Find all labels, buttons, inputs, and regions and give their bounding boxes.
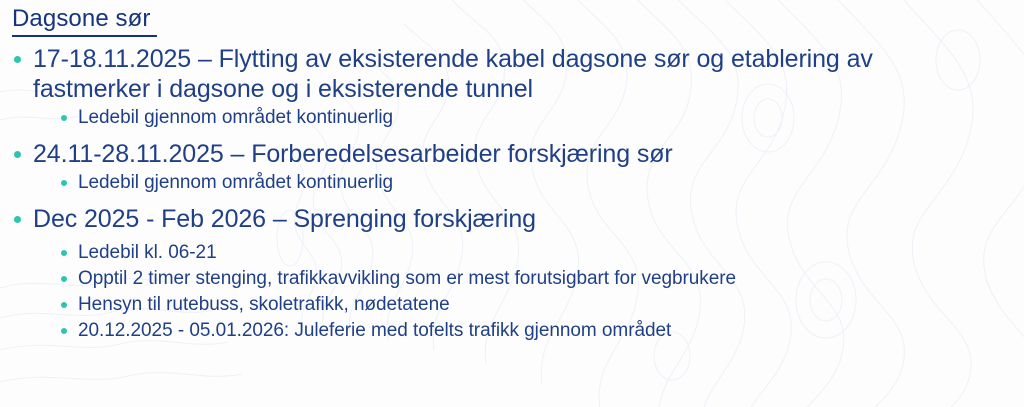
list-item-level2: Opptil 2 timer stenging, trafikkavviklin… xyxy=(0,266,1024,292)
spacer xyxy=(0,196,1024,204)
dot-bullet-icon xyxy=(14,151,21,158)
list-item-level1: 24.11-28.11.2025 – Forberedelsesarbeider… xyxy=(0,139,1024,169)
slide-canvas: Dagsone sør 17-18.11.2025 – Flytting av … xyxy=(0,0,1024,407)
dot-bullet-icon xyxy=(61,115,67,121)
list-item-level1: 17-18.11.2025 – Flytting av eksisterende… xyxy=(0,44,1024,104)
list-item-level2: Hensyn til rutebuss, skoletrafikk, nødet… xyxy=(0,292,1024,318)
dot-bullet-icon xyxy=(61,250,67,256)
dot-bullet-icon xyxy=(61,276,67,282)
list-item-text: 17-18.11.2025 – Flytting av eksisterende… xyxy=(33,45,873,103)
page-title: Dagsone sør xyxy=(12,4,157,37)
dot-bullet-icon xyxy=(61,302,67,308)
list-item-text: Opptil 2 timer stenging, trafikkavviklin… xyxy=(78,268,736,289)
spacer xyxy=(0,131,1024,139)
dot-bullet-icon xyxy=(14,216,21,223)
list-item-level2: Ledebil kl. 06-21 xyxy=(0,240,1024,266)
bullet-list: 17-18.11.2025 – Flytting av eksisterende… xyxy=(0,44,1024,344)
list-item-text: Hensyn til rutebuss, skoletrafikk, nødet… xyxy=(78,294,450,315)
title-container: Dagsone sør xyxy=(12,4,157,37)
list-item-text: Ledebil kl. 06-21 xyxy=(78,242,217,263)
list-item-text: 20.12.2025 - 05.01.2026: Juleferie med t… xyxy=(78,320,671,341)
dot-bullet-icon xyxy=(61,180,67,186)
dot-bullet-icon xyxy=(61,328,67,334)
list-item-level2: Ledebil gjennom området kontinuerlig xyxy=(0,105,1024,131)
dot-bullet-icon xyxy=(14,56,21,63)
list-item-text: Ledebil gjennom området kontinuerlig xyxy=(78,107,393,128)
list-item-text: Ledebil gjennom området kontinuerlig xyxy=(78,172,393,193)
list-item-level2: Ledebil gjennom området kontinuerlig xyxy=(0,170,1024,196)
list-item-level2: 20.12.2025 - 05.01.2026: Juleferie med t… xyxy=(0,318,1024,344)
list-item-text: Dec 2025 - Feb 2026 – Sprenging forskjær… xyxy=(33,205,536,233)
list-item-level1: Dec 2025 - Feb 2026 – Sprenging forskjær… xyxy=(0,204,1024,234)
list-item-text: 24.11-28.11.2025 – Forberedelsesarbeider… xyxy=(33,140,673,168)
